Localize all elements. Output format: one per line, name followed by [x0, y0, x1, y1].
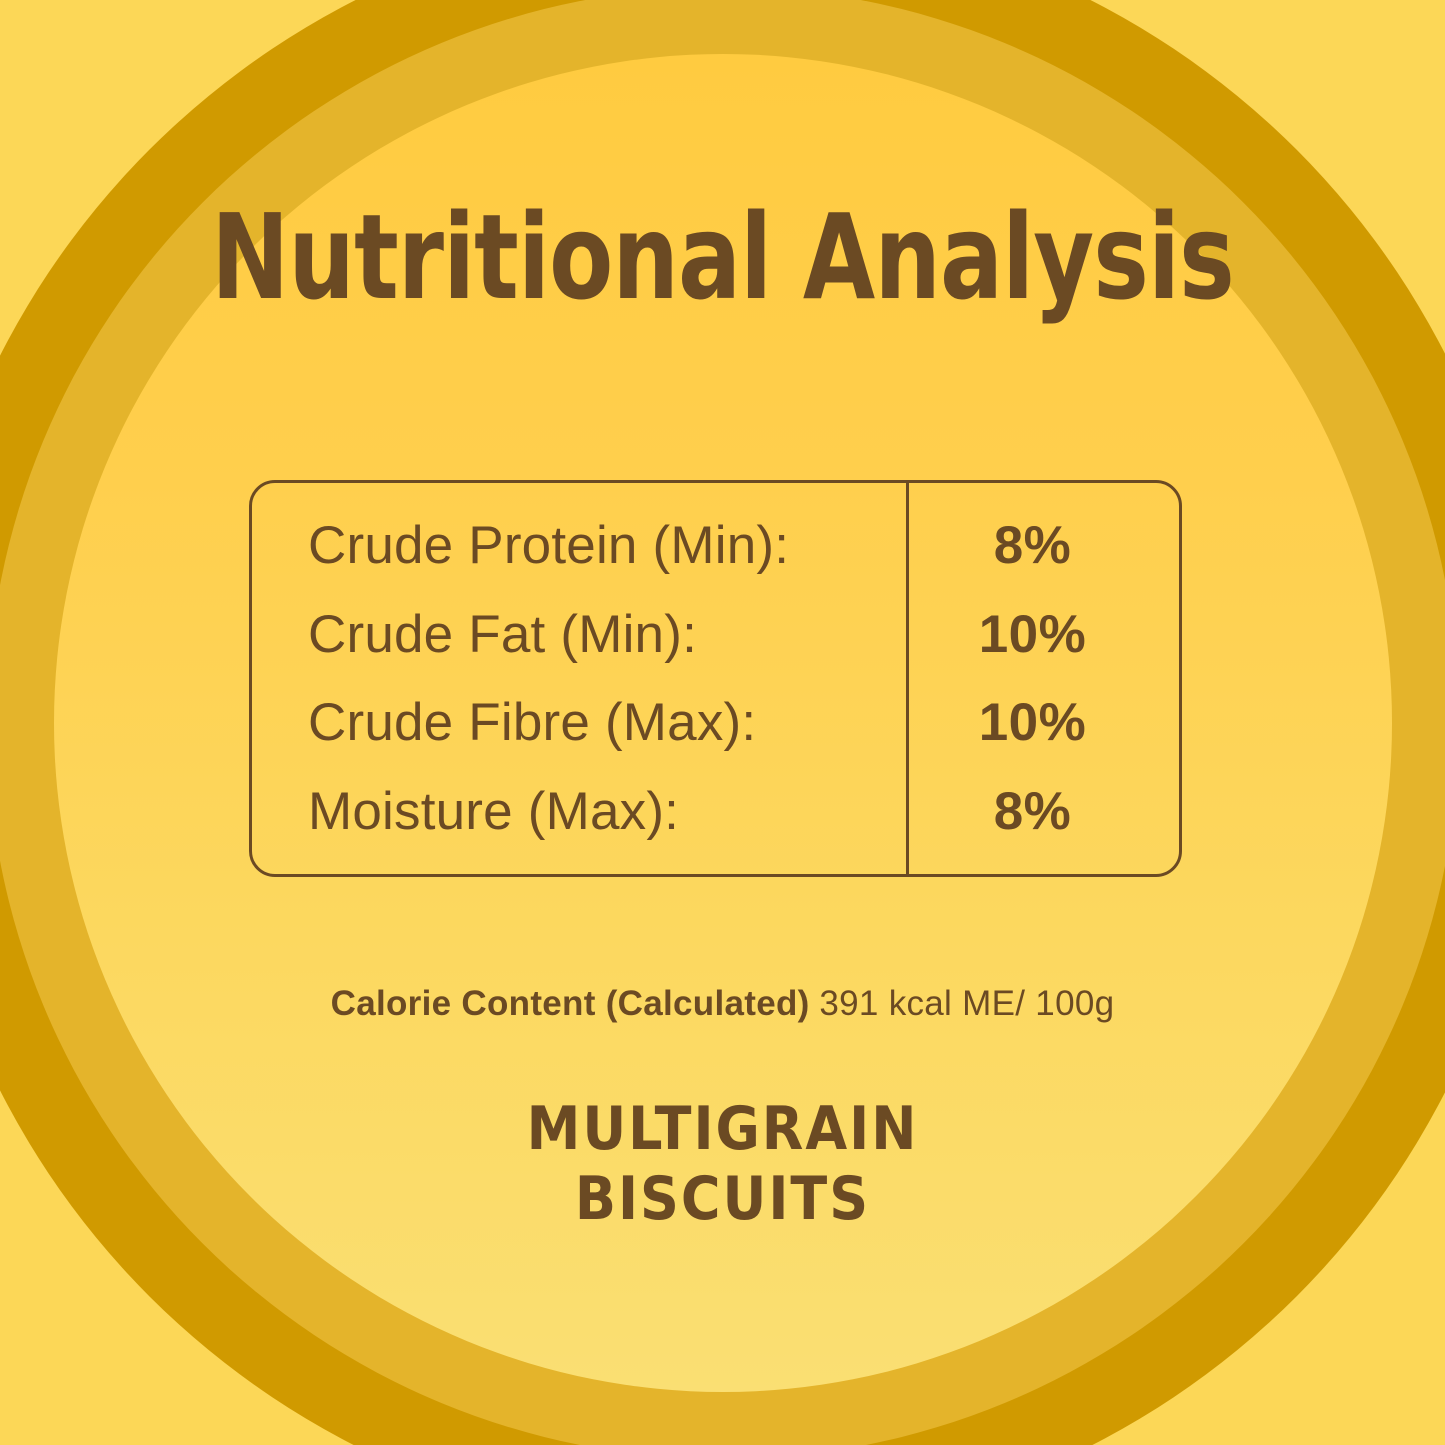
nutrient-label: Crude Protein (Min):: [252, 515, 906, 576]
product-name-line-1: MULTIGRAIN: [0, 1094, 1445, 1164]
nutrient-value: 8%: [906, 781, 1179, 842]
table-body: Crude Protein (Min): 8% Crude Fat (Min):…: [252, 483, 1179, 874]
nutrient-label: Crude Fibre (Max):: [252, 692, 906, 753]
calorie-content-label: Calorie Content (Calculated): [331, 984, 810, 1023]
table-row: Crude Fat (Min): 10%: [252, 595, 1179, 673]
nutrient-label: Crude Fat (Min):: [252, 604, 906, 665]
calorie-content-line: Calorie Content (Calculated) 391 kcal ME…: [0, 984, 1445, 1024]
nutrient-value: 8%: [906, 515, 1179, 576]
page-title: Nutritional Analysis: [87, 196, 1359, 320]
nutrient-value: 10%: [906, 692, 1179, 753]
nutrient-label: Moisture (Max):: [252, 781, 906, 842]
table-row: Crude Fibre (Max): 10%: [252, 684, 1179, 762]
nutrient-value: 10%: [906, 604, 1179, 665]
calorie-content-value: 391 kcal ME/ 100g: [819, 984, 1114, 1023]
nutrition-analysis-table: Crude Protein (Min): 8% Crude Fat (Min):…: [249, 480, 1182, 877]
table-row: Crude Protein (Min): 8%: [252, 506, 1179, 584]
nutrition-label-card: Nutritional Analysis Crude Protein (Min)…: [0, 0, 1445, 1445]
label-content: Nutritional Analysis Crude Protein (Min)…: [0, 0, 1445, 1445]
table-row: Moisture (Max): 8%: [252, 773, 1179, 851]
product-name: MULTIGRAIN BISCUITS: [0, 1094, 1445, 1234]
product-name-line-2: BISCUITS: [0, 1164, 1445, 1234]
